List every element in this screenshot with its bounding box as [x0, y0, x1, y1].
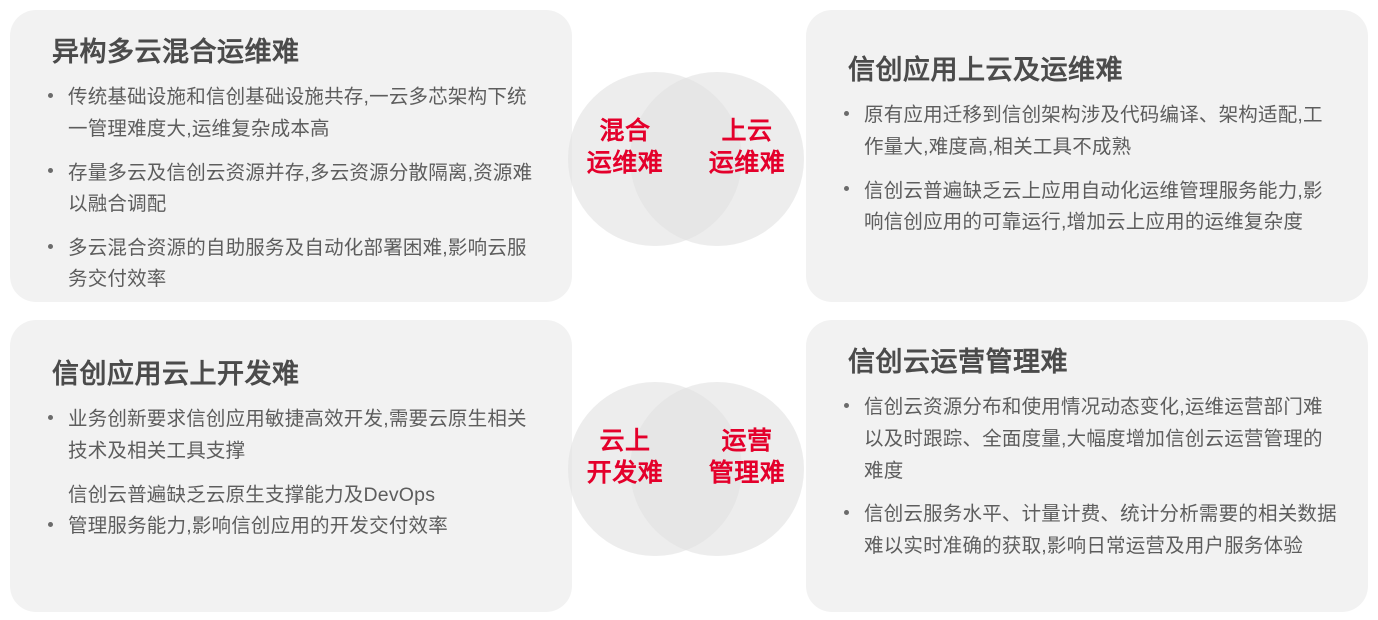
venn-label-line1: 上云: [688, 116, 806, 148]
bullet-dot-icon: [844, 403, 849, 408]
list-item: 业务创新要求信创应用敏捷高效开发,需要云原生相关技术及相关工具支撑: [44, 404, 542, 467]
bullet-dot-icon: [844, 111, 849, 116]
venn-label-cloud-migration-ops: 上云 运维难: [688, 116, 806, 179]
bullet-text: 存量多云及信创云资源并存,多云资源分散隔离,资源难以融合调配: [68, 162, 532, 216]
venn-label-line2: 运维难: [566, 148, 684, 180]
venn-label-line2: 开发难: [566, 458, 684, 490]
bullet-text: 信创云服务水平、计量计费、统计分析需要的相关数据难以实时准确的获取,影响日常运营…: [864, 503, 1337, 557]
venn-group-top: 混合 运维难 上云 运维难: [568, 72, 804, 246]
bullet-list: 业务创新要求信创应用敏捷高效开发,需要云原生相关技术及相关工具支撑 信创云普遍缺…: [44, 404, 542, 542]
venn-label-line1: 运营: [688, 426, 806, 458]
bullet-text: 多云混合资源的自助服务及自动化部署困难,影响云服务交付效率: [68, 237, 527, 291]
bullet-text: 传统基础设施和信创基础设施共存,一云多芯架构下统一管理难度大,运维复杂成本高: [68, 86, 527, 140]
bullet-dot-icon: [844, 186, 849, 191]
card-title: 异构多云混合运维难: [52, 36, 542, 68]
four-challenges-diagram: 异构多云混合运维难 传统基础设施和信创基础设施共存,一云多芯架构下统一管理难度大…: [0, 0, 1378, 620]
list-item: 信创云普遍缺乏云原生支撑能力及DevOps 管理服务能力,影响信创应用的开发交付…: [44, 480, 542, 543]
venn-group-bottom: 云上 开发难 运营 管理难: [568, 382, 804, 556]
card-heterogeneous-multicloud-ops: 异构多云混合运维难 传统基础设施和信创基础设施共存,一云多芯架构下统一管理难度大…: [10, 10, 572, 302]
card-xinchuang-app-cloud-dev: 信创应用云上开发难 业务创新要求信创应用敏捷高效开发,需要云原生相关技术及相关工…: [10, 320, 572, 612]
venn-label-line2: 管理难: [688, 458, 806, 490]
bullet-dot-icon: [844, 510, 849, 515]
card-title: 信创应用云上开发难: [52, 358, 542, 390]
bullet-dot-icon: [48, 415, 53, 420]
list-item: 传统基础设施和信创基础设施共存,一云多芯架构下统一管理难度大,运维复杂成本高: [44, 82, 542, 145]
venn-label-line1: 混合: [566, 116, 684, 148]
list-item: 存量多云及信创云资源并存,多云资源分散隔离,资源难以融合调配: [44, 158, 542, 221]
card-title: 信创应用上云及运维难: [848, 54, 1342, 86]
bullet-text: 信创云资源分布和使用情况动态变化,运维运营部门难以及时跟踪、全面度量,大幅度增加…: [864, 396, 1323, 481]
bullet-text: 管理服务能力,影响信创应用的开发交付效率: [68, 515, 448, 537]
bullet-dot-icon: [48, 168, 53, 173]
list-item: 原有应用迁移到信创架构涉及代码编译、架构适配,工作量大,难度高,相关工具不成熟: [840, 100, 1342, 163]
bullet-text: 原有应用迁移到信创架构涉及代码编译、架构适配,工作量大,难度高,相关工具不成熟: [864, 104, 1323, 158]
bullet-list: 原有应用迁移到信创架构涉及代码编译、架构适配,工作量大,难度高,相关工具不成熟 …: [840, 100, 1342, 238]
bullet-dot-icon: [48, 522, 53, 527]
bullet-text-prefix-line: 信创云普遍缺乏云原生支撑能力及DevOps: [68, 480, 542, 512]
bullet-dot-icon: [48, 93, 53, 98]
bullet-text: 业务创新要求信创应用敏捷高效开发,需要云原生相关技术及相关工具支撑: [68, 408, 527, 462]
list-item: 信创云服务水平、计量计费、统计分析需要的相关数据难以实时准确的获取,影响日常运营…: [840, 499, 1342, 562]
list-item: 信创云普遍缺乏云上应用自动化运维管理服务能力,影响信创应用的可靠运行,增加云上应…: [840, 176, 1342, 239]
venn-label-line2: 运维难: [688, 148, 806, 180]
card-title: 信创云运营管理难: [848, 346, 1342, 378]
venn-label-line1: 云上: [566, 426, 684, 458]
bullet-dot-icon: [48, 244, 53, 249]
venn-label-operations-management: 运营 管理难: [688, 426, 806, 489]
bullet-text: 信创云普遍缺乏云上应用自动化运维管理服务能力,影响信创应用的可靠运行,增加云上应…: [864, 180, 1323, 234]
bullet-list: 信创云资源分布和使用情况动态变化,运维运营部门难以及时跟踪、全面度量,大幅度增加…: [840, 392, 1342, 562]
venn-label-cloud-development: 云上 开发难: [566, 426, 684, 489]
list-item: 多云混合资源的自助服务及自动化部署困难,影响云服务交付效率: [44, 233, 542, 296]
bullet-list: 传统基础设施和信创基础设施共存,一云多芯架构下统一管理难度大,运维复杂成本高 存…: [44, 82, 542, 295]
venn-label-hybrid-ops: 混合 运维难: [566, 116, 684, 179]
card-xinchuang-app-to-cloud-ops: 信创应用上云及运维难 原有应用迁移到信创架构涉及代码编译、架构适配,工作量大,难…: [806, 10, 1368, 302]
list-item: 信创云资源分布和使用情况动态变化,运维运营部门难以及时跟踪、全面度量,大幅度增加…: [840, 392, 1342, 487]
card-xinchuang-cloud-operations-mgmt: 信创云运营管理难 信创云资源分布和使用情况动态变化,运维运营部门难以及时跟踪、全…: [806, 320, 1368, 612]
